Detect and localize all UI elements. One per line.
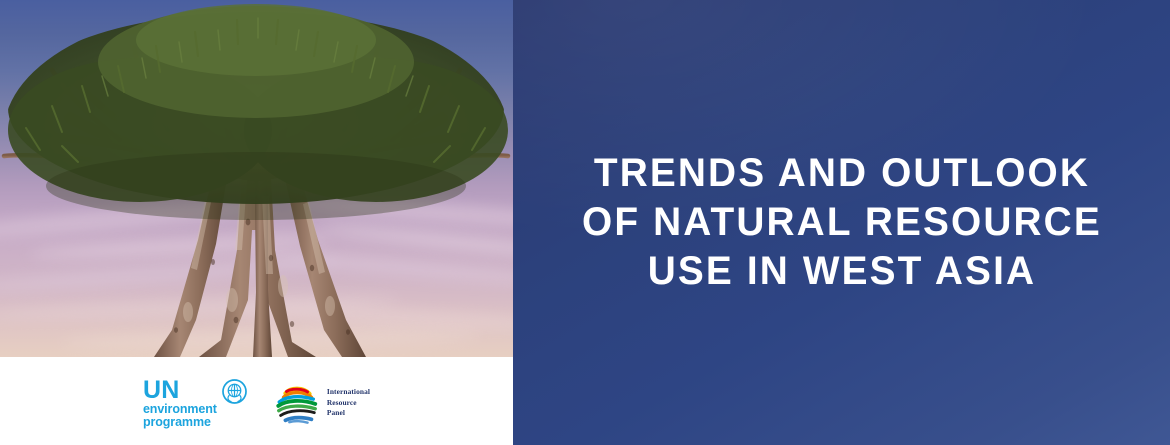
- irp-logo: International Resource Panel: [273, 379, 370, 427]
- report-cover-banner: UN environment programme: [0, 0, 1170, 445]
- un-emblem-icon: [222, 379, 247, 404]
- irp-globe-icon: [273, 379, 321, 427]
- logo-band: UN environment programme: [0, 357, 513, 445]
- irp-logo-text: International Resource Panel: [327, 387, 370, 419]
- dragon-blood-tree-photo: [0, 0, 513, 357]
- tree-canopy: [8, 4, 508, 220]
- cover-photo-column: UN environment programme: [0, 0, 513, 445]
- tree-illustration: [0, 0, 513, 357]
- title-line-1: TRENDS AND OUTLOOK: [582, 149, 1102, 198]
- title-panel: TRENDS AND OUTLOOK OF NATURAL RESOURCE U…: [513, 0, 1170, 445]
- title-line-2: OF NATURAL RESOURCE: [582, 198, 1102, 247]
- unep-logo-text: UN environment programme: [143, 378, 217, 429]
- page-title: TRENDS AND OUTLOOK OF NATURAL RESOURCE U…: [554, 149, 1128, 295]
- title-line-3: USE IN WEST ASIA: [582, 247, 1102, 296]
- unep-logo-line3: programme: [143, 416, 217, 429]
- irp-logo-line1: International: [327, 387, 370, 398]
- irp-logo-line2: Resource: [327, 398, 370, 409]
- unep-logo-line1: UN: [143, 378, 217, 403]
- unep-logo-line2: environment: [143, 403, 217, 416]
- irp-logo-line3: Panel: [327, 408, 370, 419]
- unep-logo: UN environment programme: [143, 378, 247, 429]
